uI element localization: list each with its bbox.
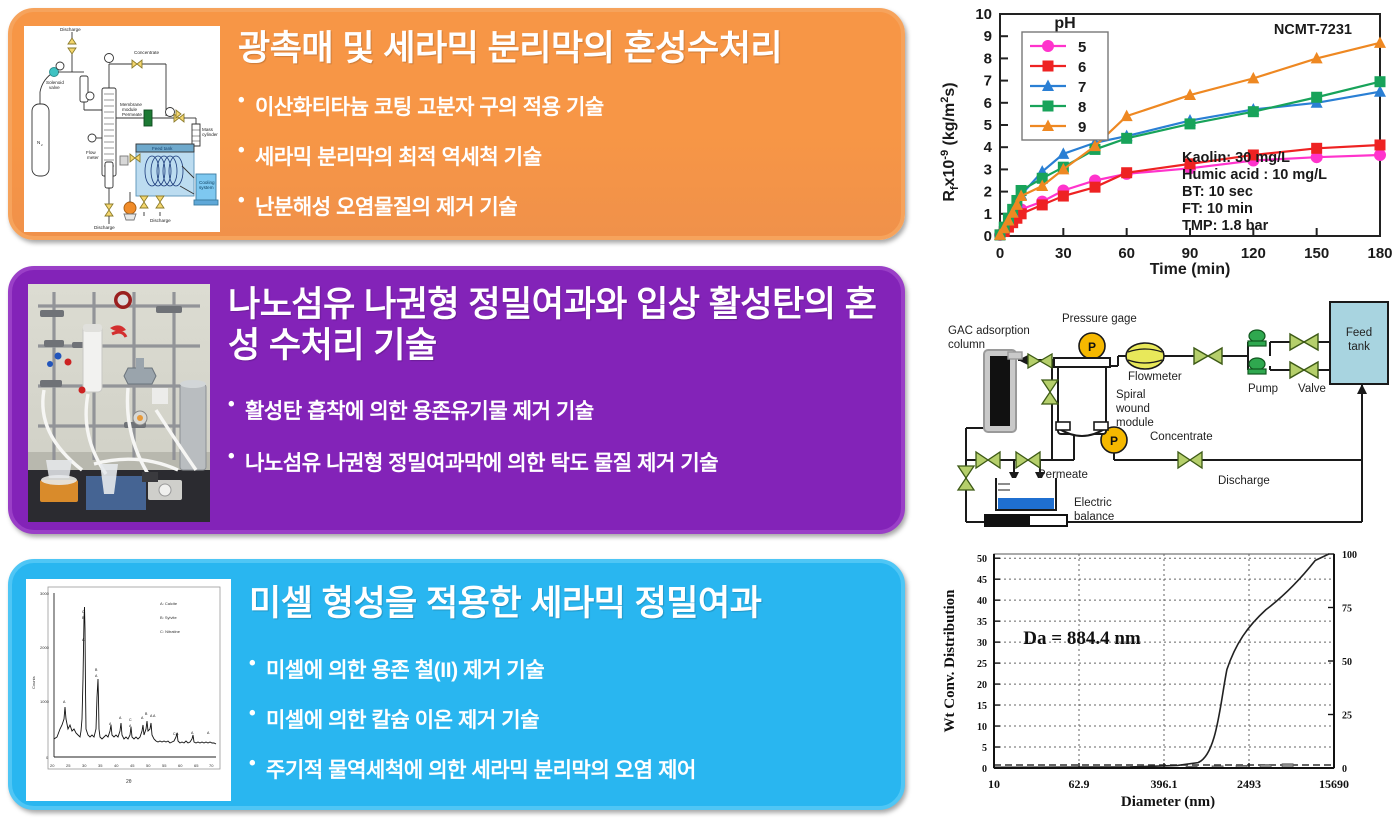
svg-text:valve: valve	[49, 85, 60, 90]
fouling-resistance-chart: 012345678910 0306090120150180 Rfx10-9 (k…	[932, 2, 1398, 284]
condition-line: Kaolin: 30 mg/L	[1182, 150, 1290, 166]
list-item: 이산화티타늄 코팅 고분자 구의 적용 기술	[238, 91, 891, 121]
y-tick-label: 4	[984, 139, 993, 156]
svg-text:C: C	[82, 610, 85, 614]
svg-text:Concentrate: Concentrate	[134, 50, 159, 55]
svg-text:P: P	[1110, 434, 1118, 448]
svg-text:Discharge: Discharge	[150, 218, 171, 223]
svg-text:50: 50	[146, 763, 151, 768]
svg-text:Discharge: Discharge	[94, 225, 115, 230]
panel-body: 광촉매 및 세라믹 분리막의 혼성수처리 이산화티타늄 코팅 고분자 구의 적용…	[220, 24, 891, 224]
svg-text:pH: pH	[1054, 15, 1075, 32]
particle-size-distribution-chart: 05101520253035404550 0255075100 1062.939…	[932, 538, 1398, 816]
gac-adsorption-column	[984, 350, 1022, 432]
pump-icon	[1248, 358, 1266, 374]
pump-icon	[1248, 330, 1266, 346]
svg-text:60: 60	[178, 763, 183, 768]
flowmeter-label: Flowmeter	[1128, 371, 1182, 383]
panel-photocatalyst-ceramic-membrane[interactable]: Discharge Concentrate Solenoidvalve Memb…	[8, 8, 905, 240]
chart-svg: 05101520253035404550 0255075100 1062.939…	[932, 538, 1398, 816]
bullet-list: 이산화티타늄 코팅 고분자 구의 적용 기술 세라믹 분리막의 최적 역세척 기…	[238, 91, 891, 241]
valve-label: Valve	[1298, 383, 1326, 395]
feed-tank-label-2: tank	[1348, 341, 1370, 353]
permeate-label: Permeate	[1038, 469, 1088, 481]
diagram-svg: Feed tank	[932, 288, 1398, 536]
y-tick-label-right: 0	[1342, 764, 1347, 775]
svg-text:30: 30	[82, 763, 87, 768]
panel-body: 미셀 형성을 적용한 세라믹 정밀여과 미셀에 의한 용존 철(II) 제거 기…	[231, 575, 891, 794]
x-tick-label: 15690	[1319, 777, 1349, 791]
svg-text:C: Nitratine: C: Nitratine	[160, 629, 181, 634]
x-tick-label: 120	[1241, 245, 1266, 262]
y-tick-label: 2	[984, 184, 992, 201]
page-title: 광촉매 및 세라믹 분리막의 혼성수처리	[238, 28, 891, 69]
mean-diameter-annotation: Da = 884.4 nm	[1023, 628, 1141, 649]
concentrate-label: Concentrate	[1150, 431, 1213, 443]
x-tick-label: 0	[996, 245, 1004, 262]
svg-text:1000: 1000	[40, 699, 50, 704]
y-tick-label-right: 75	[1342, 604, 1352, 615]
y-tick-label: 45	[977, 575, 987, 586]
legend-label: 5	[1078, 39, 1086, 56]
svg-text:B: Sylvite: B: Sylvite	[160, 615, 177, 620]
page-title: 미셀 형성을 적용한 세라믹 정밀여과	[249, 583, 891, 624]
svg-text:meter: meter	[87, 155, 99, 160]
xrd-spectrum-thumbnail: 3000 2000 1000 0 Counts 2025 3035 4045 5…	[26, 579, 231, 801]
svg-text:Counts: Counts	[31, 676, 36, 689]
legend-label: 9	[1078, 119, 1086, 136]
svg-text:system: system	[199, 185, 214, 190]
flowmeter-icon	[1126, 343, 1164, 369]
slide-root: Discharge Concentrate Solenoidvalve Memb…	[0, 0, 1400, 818]
pressure-gage-icon: P	[1079, 333, 1105, 359]
y-tick-label: 10	[975, 6, 992, 23]
svg-text:45: 45	[130, 763, 135, 768]
y-tick-label: 0	[982, 764, 987, 775]
y-tick-label: 5	[984, 117, 992, 134]
y-tick-label: 6	[984, 95, 992, 112]
y-tick-label-right: 100	[1342, 550, 1357, 561]
svg-text:C: C	[129, 718, 132, 722]
list-item: 주기적 물역세척에 의한 세라믹 분리막의 오염 제어	[249, 754, 891, 784]
svg-text:35: 35	[98, 763, 103, 768]
x-tick-label: 396.1	[1151, 777, 1178, 791]
pressure-gage-label: Pressure gage	[1062, 313, 1137, 325]
svg-text:65: 65	[194, 763, 199, 768]
chart-legend: pH56789	[1022, 15, 1108, 140]
feed-tank-label: Feed	[1346, 327, 1372, 339]
lab-apparatus-photo-thumbnail	[28, 284, 210, 522]
spiral-wound-gac-process-diagram: Feed tank	[932, 288, 1398, 536]
y-tick-label: 25	[977, 659, 987, 670]
spiral-label-2: wound	[1115, 403, 1150, 415]
condition-line: TMP: 1.8 bar	[1182, 218, 1269, 234]
y-tick-label: 40	[977, 596, 987, 607]
panel-body: 나노섬유 나권형 정밀여과와 입상 활성탄의 혼성 수처리 기술 활성탄 흡착에…	[210, 282, 891, 518]
x-tick-label: 62.9	[1069, 777, 1090, 791]
list-item: 나노섬유 나권형 정밀여과막에 의한 탁도 물질 제거 기술	[228, 447, 891, 477]
beaker-icon	[996, 478, 1056, 510]
bullet-list: 미셀에 의한 용존 철(II) 제거 기술 미셀에 의한 칼슘 이온 제거 기술…	[249, 654, 891, 804]
y-tick-label: 1	[984, 206, 992, 223]
svg-text:55: 55	[162, 763, 167, 768]
pump-label: Pump	[1248, 383, 1278, 395]
spiral-wound-module	[1054, 358, 1110, 436]
panel-nanofiber-spiral-wound-gac[interactable]: 나노섬유 나권형 정밀여과와 입상 활성탄의 혼성 수처리 기술 활성탄 흡착에…	[8, 266, 905, 534]
y-axis-label: Wt Conv. Distribution	[942, 589, 958, 733]
list-item: 미셀에 의한 칼슘 이온 제거 기술	[249, 704, 891, 734]
x-axis-label: Diameter (nm)	[1121, 794, 1215, 810]
x-tick-label: 2493	[1237, 777, 1261, 791]
y-tick-label: 9	[984, 28, 992, 45]
y-tick-label: 10	[977, 722, 987, 733]
condition-line: Humic acid : 10 mg/L	[1182, 167, 1327, 183]
electric-balance-label-1: Electric	[1074, 497, 1112, 509]
svg-text:cylinder: cylinder	[202, 132, 218, 137]
electric-balance-label-2: balance	[1074, 511, 1114, 523]
y-tick-label: 20	[977, 680, 987, 691]
panel-micelle-ceramic-microfiltration[interactable]: 3000 2000 1000 0 Counts 2025 3035 4045 5…	[8, 559, 905, 810]
condition-line: FT: 10 min	[1182, 201, 1253, 217]
page-title: 나노섬유 나권형 정밀여과와 입상 활성탄의 혼성 수처리 기술	[228, 284, 891, 367]
svg-text:Discharge: Discharge	[60, 27, 81, 32]
gac-label-2: column	[948, 339, 985, 351]
svg-text:P: P	[1088, 340, 1096, 354]
process-schematic-thumbnail: Discharge Concentrate Solenoidvalve Memb…	[24, 26, 220, 232]
legend-label: 6	[1078, 59, 1086, 76]
list-item: 세라믹 분리막의 최적 역세척 기술	[238, 141, 891, 171]
x-axis-label: Time (min)	[1150, 261, 1231, 278]
condition-line: BT: 10 sec	[1182, 184, 1253, 200]
svg-text:25: 25	[66, 763, 71, 768]
membrane-process-diagram: Discharge Concentrate Solenoidvalve Memb…	[24, 26, 220, 232]
x-tick-label: 10	[988, 777, 1000, 791]
y-tick-label-right: 25	[1342, 711, 1352, 722]
svg-text:N: N	[37, 140, 40, 145]
y-tick-label: 7	[984, 73, 992, 90]
discharge-label: Discharge	[1218, 475, 1270, 487]
y-tick-label: 15	[977, 701, 987, 712]
svg-text:40: 40	[114, 763, 119, 768]
legend-label: 7	[1078, 79, 1086, 96]
y-tick-label: 50	[977, 554, 987, 565]
x-tick-label: 30	[1055, 245, 1072, 262]
list-item: 난분해성 오염물질의 제거 기술	[238, 191, 891, 221]
svg-text:70: 70	[209, 763, 214, 768]
y-tick-label: 30	[977, 638, 987, 649]
y-tick-label: 0	[984, 228, 992, 245]
electric-balance-icon	[984, 514, 1068, 527]
y-tick-label: 5	[982, 743, 987, 754]
y-tick-label: 3	[984, 161, 992, 178]
svg-text:A: Calcite: A: Calcite	[160, 601, 178, 606]
y-tick-label: 8	[984, 50, 992, 67]
chart-code-annotation: NCMT-7231	[1274, 22, 1352, 38]
gac-label-1: GAC adsorption	[948, 325, 1030, 337]
svg-text:Permeate: Permeate	[122, 112, 142, 117]
list-item: 활성탄 흡착에 의한 용존유기물 제거 기술	[228, 395, 891, 425]
y-tick-label-right: 50	[1342, 657, 1352, 668]
svg-text:2θ: 2θ	[126, 779, 132, 785]
svg-text:20: 20	[50, 763, 55, 768]
xrd-pattern: 3000 2000 1000 0 Counts 2025 3035 4045 5…	[26, 579, 231, 801]
svg-text:3000: 3000	[40, 591, 50, 596]
spiral-label-3: module	[1116, 417, 1154, 429]
svg-text:2000: 2000	[40, 645, 50, 650]
legend-label: 8	[1078, 99, 1086, 116]
x-tick-label: 180	[1367, 245, 1392, 262]
chart-svg: 012345678910 0306090120150180 Rfx10-9 (k…	[932, 2, 1398, 284]
x-tick-label: 150	[1304, 245, 1329, 262]
spiral-label-1: Spiral	[1116, 389, 1145, 401]
bullet-list: 활성탄 흡착에 의한 용존유기물 제거 기술 나노섬유 나권형 정밀여과막에 의…	[228, 395, 891, 499]
svg-text:Feed tank: Feed tank	[152, 146, 173, 151]
y-tick-label: 35	[977, 617, 987, 628]
x-tick-label: 60	[1118, 245, 1135, 262]
list-item: 미셀에 의한 용존 철(II) 제거 기술	[249, 654, 891, 684]
lab-apparatus-photo	[28, 284, 210, 522]
x-tick-label: 90	[1182, 245, 1199, 262]
